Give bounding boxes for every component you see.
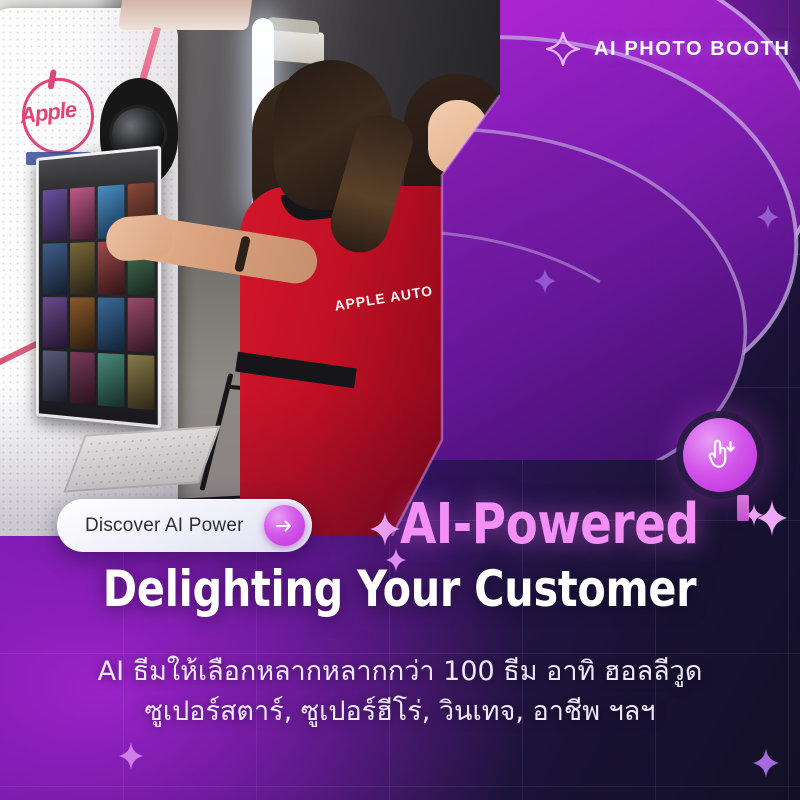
sparkle-icon-bottom-right — [753, 748, 779, 783]
header-title: AI PHOTO BOOTH — [594, 38, 790, 61]
tap-gesture-badge[interactable] — [683, 418, 757, 492]
cta-label: Discover AI Power — [85, 515, 244, 537]
photo-vignette — [0, 0, 500, 536]
body-line-2: ซูเปอร์สตาร์, ซูเปอร์ฮีโร่, วินเทจ, อาชี… — [60, 692, 740, 732]
sparkle-icon-mid-right — [534, 268, 556, 299]
promo-banner: Apple — [0, 0, 800, 800]
body-line-1: AI ธีมให้เลือกหลากหลากกว่า 100 ธีม อาทิ … — [60, 652, 740, 692]
sparkle-star-icon — [546, 32, 580, 66]
arrow-right-icon[interactable] — [264, 505, 305, 546]
sparkle-icon-top-right — [757, 204, 779, 235]
headline-secondary: Delighting Your Customer — [0, 562, 800, 616]
header-badge: AI PHOTO BOOTH — [546, 32, 790, 66]
headline-primary: AI-Powered — [400, 494, 735, 556]
decorative-pink-bar — [737, 495, 749, 521]
hero-photo: Apple — [0, 0, 500, 536]
headline-secondary-text: Delighting Your Customer — [103, 564, 697, 614]
sparkle-icon-right — [757, 500, 787, 541]
discover-ai-power-button[interactable]: Discover AI Power — [57, 499, 312, 552]
sparkle-icon-bottom-left — [119, 742, 143, 775]
body-copy: AI ธีมให้เลือกหลากหลากกว่า 100 ธีม อาทิ … — [60, 652, 740, 732]
tap-hand-download-icon — [700, 433, 740, 478]
